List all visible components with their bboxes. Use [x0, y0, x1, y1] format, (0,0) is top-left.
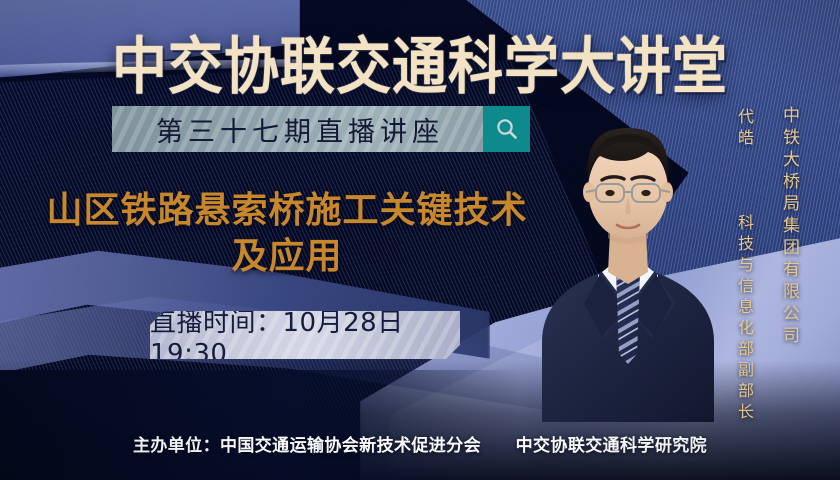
webinar-poster: 中交协联交通科学大讲堂 第三十七期直播讲座 山区铁路悬索桥施工关键技术 及应用 … [0, 0, 840, 480]
footer-organizers: 主办单位：中国交通运输协会新技术促进分会 中交协联交通科学研究院 [0, 431, 840, 456]
speaker-name: 代皓 [735, 108, 754, 150]
lecture-title: 山区铁路悬索桥施工关键技术 及应用 [22, 188, 552, 280]
episode-banner: 第三十七期直播讲座 [112, 106, 530, 152]
episode-banner-body: 第三十七期直播讲座 [112, 106, 483, 152]
broadcast-time-label: 直播时间：10月28日19:30 [150, 302, 460, 369]
lecture-title-line1: 山区铁路悬索桥施工关键技术 [22, 188, 552, 234]
speaker-portrait-illustration [540, 92, 716, 422]
search-icon [494, 116, 520, 142]
broadcast-time-banner: 直播时间：10月28日19:30 [150, 311, 460, 359]
speaker-position: 科技与信息化部副部长 [735, 214, 754, 424]
footer-institute: 中交协联交通科学研究院 [516, 436, 707, 456]
speaker-organization: 中铁大桥局集团有限公司 [777, 106, 802, 348]
lecture-title-line2: 及应用 [22, 234, 552, 280]
background-bottom-left-shade [0, 370, 520, 480]
search-button[interactable] [483, 106, 530, 152]
footer-organizer: 主办单位：中国交通运输协会新技术促进分会 [133, 436, 481, 456]
speaker-photo [540, 92, 716, 422]
episode-label: 第三十七期直播讲座 [151, 110, 444, 149]
speaker-identity: 代皓 科技与信息化部副部长 [732, 108, 756, 424]
